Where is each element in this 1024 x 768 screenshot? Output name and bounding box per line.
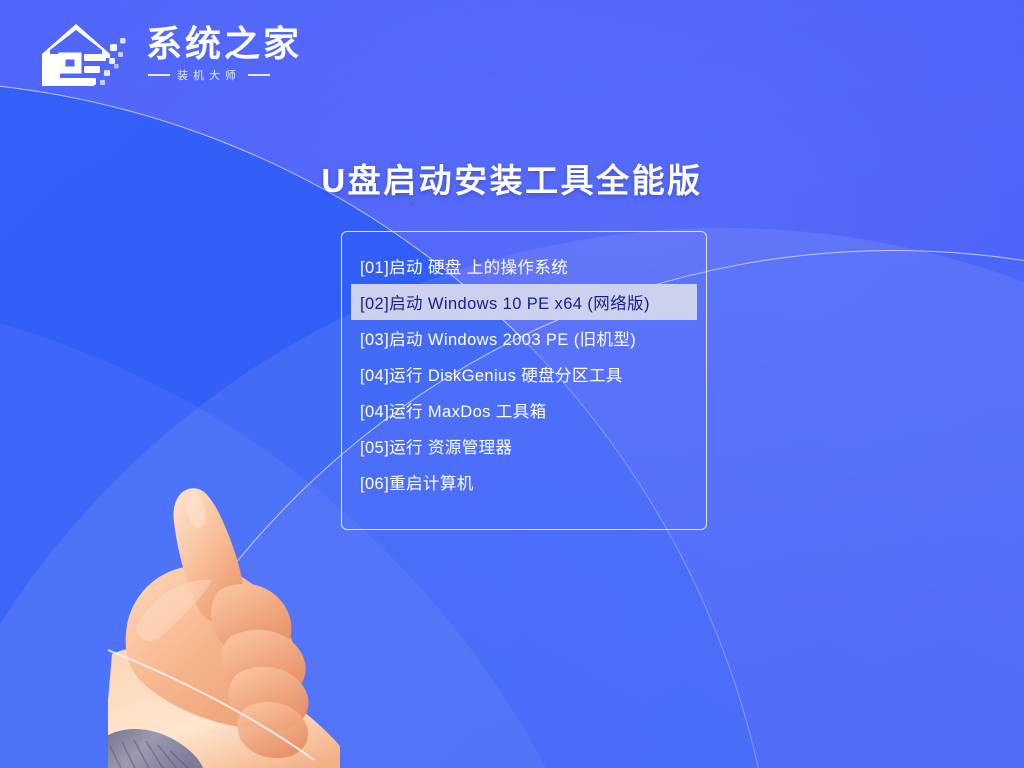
menu-item-05[interactable]: [05]运行 资源管理器	[351, 428, 697, 464]
page-title: U盘启动安装工具全能版	[0, 154, 1024, 202]
menu-item-03[interactable]: [03]启动 Windows 2003 PE (旧机型)	[351, 320, 697, 356]
brand-name: 系统之家	[146, 25, 302, 63]
brand-text: 系统之家 装机大师	[146, 25, 302, 83]
house-pixel-logo-icon	[36, 14, 132, 94]
boot-menu-panel: [01]启动 硬盘 上的操作系统 [02]启动 Windows 10 PE x6…	[341, 231, 707, 530]
menu-item-06[interactable]: [06]重启计算机	[351, 464, 697, 500]
brand-subtitle: 装机大师	[177, 67, 241, 83]
boot-menu-list: [01]启动 硬盘 上的操作系统 [02]启动 Windows 10 PE x6…	[342, 248, 706, 500]
brand-subtitle-row: 装机大师	[146, 67, 302, 83]
dash-left-icon	[148, 74, 170, 76]
dash-right-icon	[248, 74, 270, 76]
brand-logo: 系统之家 装机大师	[36, 14, 302, 94]
menu-item-04-maxdos[interactable]: [04]运行 MaxDos 工具箱	[351, 392, 697, 428]
menu-item-04-diskgenius[interactable]: [04]运行 DiskGenius 硬盘分区工具	[351, 356, 697, 392]
menu-item-01[interactable]: [01]启动 硬盘 上的操作系统	[351, 248, 697, 284]
menu-item-02[interactable]: [02]启动 Windows 10 PE x64 (网络版)	[351, 284, 697, 320]
boot-menu-screen: 系统之家 装机大师 U盘启动安装工具全能版 [01]启动 硬盘 上的操作系统 […	[0, 0, 1024, 768]
